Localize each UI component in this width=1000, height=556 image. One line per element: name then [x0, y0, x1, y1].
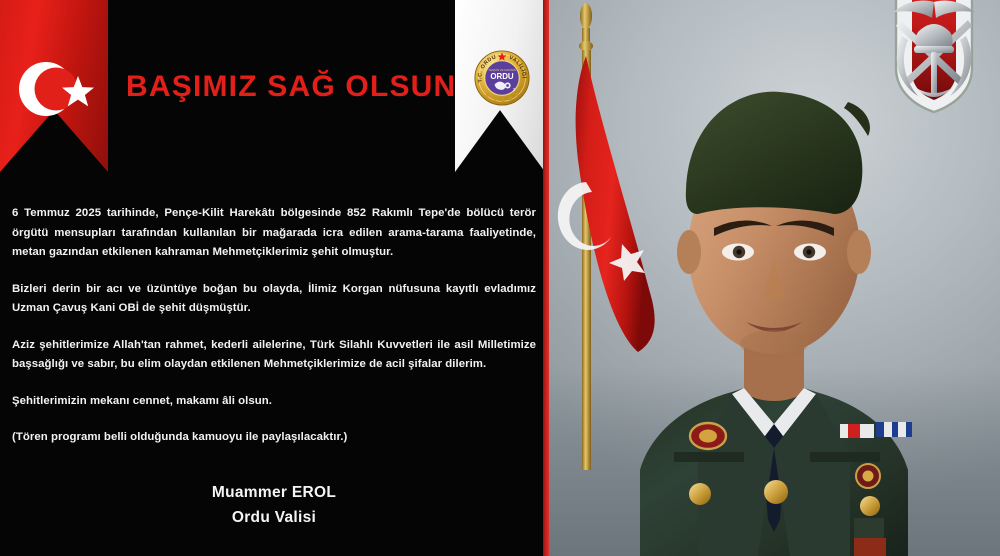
page-title: BAŞIMIZ SAĞ OLSUN: [126, 72, 446, 102]
ordu-governorship-seal-icon: T.C. ORDU VALİLİĞİ YEŞİLİN VE MAVİNİN OR…: [474, 50, 530, 106]
announcement-body: 6 Temmuz 2025 tarihinde, Pençe-Kilit Har…: [12, 204, 536, 448]
signature-block: Muammer EROL Ordu Valisi: [0, 480, 548, 530]
memorial-poster: BAŞIMIZ SAĞ OLSUN T.C. ORDU VALİLİĞİ: [0, 0, 1000, 556]
paragraph-3: Aziz şehitlerimize Allah'tan rahmet, ked…: [12, 336, 536, 375]
announcement-panel: BAŞIMIZ SAĞ OLSUN T.C. ORDU VALİLİĞİ: [0, 0, 548, 556]
svg-text:ORDU: ORDU: [490, 72, 514, 81]
signer-title: Ordu Valisi: [0, 505, 548, 530]
soldier-photo: [548, 0, 1000, 556]
turkish-land-forces-emblem-icon: [882, 0, 986, 114]
signer-name: Muammer EROL: [0, 480, 548, 505]
paragraph-5: (Tören programı belli olduğunda kamuoyu …: [12, 428, 536, 448]
panel-divider: [543, 0, 549, 556]
paragraph-1: 6 Temmuz 2025 tarihinde, Pençe-Kilit Har…: [12, 204, 536, 263]
paragraph-4: Şehitlerimizin mekanı cennet, makamı âli…: [12, 392, 536, 412]
turkish-crescent-star-icon: [8, 46, 102, 132]
paragraph-2: Bizleri derin bir acı ve üzüntüye boğan …: [12, 280, 536, 319]
svg-text:YEŞİLİN VE MAVİNİN: YEŞİLİN VE MAVİNİN: [488, 67, 515, 72]
